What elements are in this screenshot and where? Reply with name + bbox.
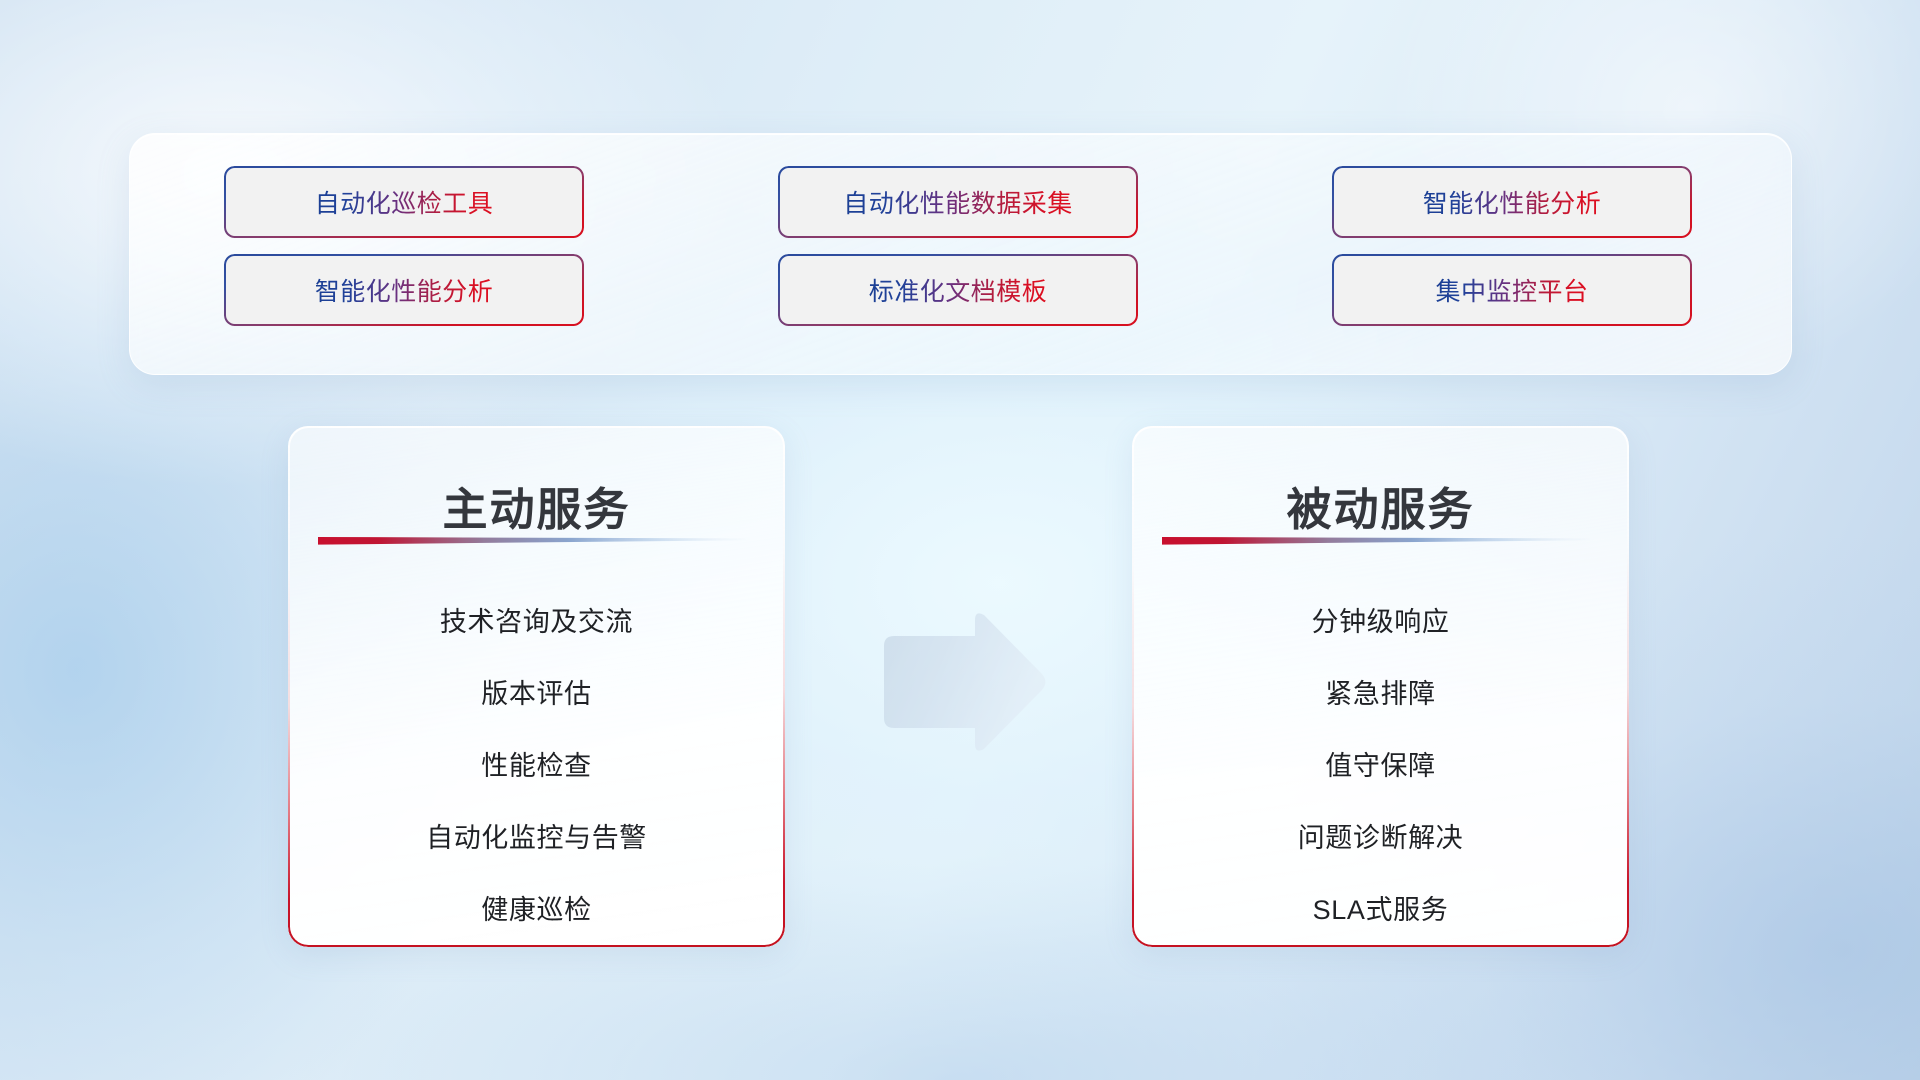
capability-pill-intelligent-performance-analysis-2[interactable]: 智能化性能分析 (226, 256, 582, 324)
capability-pill-automation-performance-data-collection[interactable]: 自动化性能数据采集 (780, 168, 1136, 236)
list-item: 版本评估 (288, 655, 785, 727)
card-divider (1162, 532, 1596, 543)
capability-pill-intelligent-performance-analysis-1[interactable]: 智能化性能分析 (1334, 168, 1690, 236)
list-item: 值守保障 (1132, 727, 1629, 799)
service-card-active: 主动服务 技术咨询及交流 版本评估 性能检查 自动化监控与告警 健康巡检 (288, 426, 785, 947)
card-item-list: 技术咨询及交流 版本评估 性能检查 自动化监控与告警 健康巡检 (288, 583, 785, 943)
list-item: 技术咨询及交流 (288, 583, 785, 655)
list-item: 性能检查 (288, 727, 785, 799)
list-item: 自动化监控与告警 (288, 799, 785, 871)
list-item: 紧急排障 (1132, 655, 1629, 727)
list-item: 分钟级响应 (1132, 583, 1629, 655)
capability-pill-standardized-document-template[interactable]: 标准化文档模板 (780, 256, 1136, 324)
flow-arrow-right-icon (872, 608, 1049, 756)
list-item: SLA式服务 (1132, 871, 1629, 943)
capability-pill-grid: 自动化巡检工具 自动化性能数据采集 智能化性能分析 智能化性能分析 标准化文档模… (226, 168, 1696, 324)
list-item: 问题诊断解决 (1132, 799, 1629, 871)
capability-pill-label: 智能化性能分析 (1423, 184, 1602, 220)
capability-pill-label: 标准化文档模板 (869, 272, 1048, 308)
capability-pill-label: 智能化性能分析 (315, 272, 494, 308)
service-card-passive: 被动服务 分钟级响应 紧急排障 值守保障 问题诊断解决 SLA式服务 (1132, 426, 1629, 947)
card-title: 主动服务 (288, 473, 785, 538)
capability-pill-centralized-monitoring-platform[interactable]: 集中监控平台 (1334, 256, 1690, 324)
card-divider (318, 532, 752, 543)
capability-panel: 自动化巡检工具 自动化性能数据采集 智能化性能分析 智能化性能分析 标准化文档模… (129, 133, 1792, 375)
capability-pill-label: 自动化性能数据采集 (843, 184, 1073, 220)
capability-pill-label: 自动化巡检工具 (315, 184, 494, 220)
card-item-list: 分钟级响应 紧急排障 值守保障 问题诊断解决 SLA式服务 (1132, 583, 1629, 943)
list-item: 健康巡检 (288, 871, 785, 943)
card-title: 被动服务 (1132, 473, 1629, 538)
capability-pill-label: 集中监控平台 (1435, 272, 1588, 308)
capability-pill-automation-inspection-tool[interactable]: 自动化巡检工具 (226, 168, 582, 236)
